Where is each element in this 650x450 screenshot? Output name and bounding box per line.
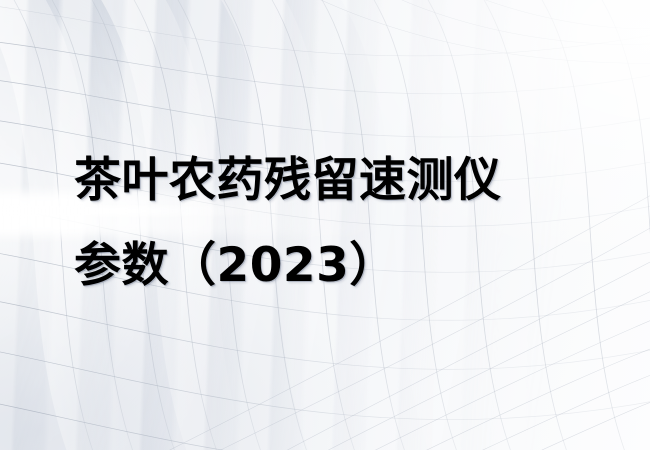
page-title: 茶叶农药残留速测仪 参数（2023） [74, 138, 502, 308]
title-line-2: 参数（2023） [74, 223, 502, 308]
title-banner: 茶叶农药残留速测仪 参数（2023） [0, 0, 650, 450]
title-line-1: 茶叶农药残留速测仪 [74, 138, 502, 223]
